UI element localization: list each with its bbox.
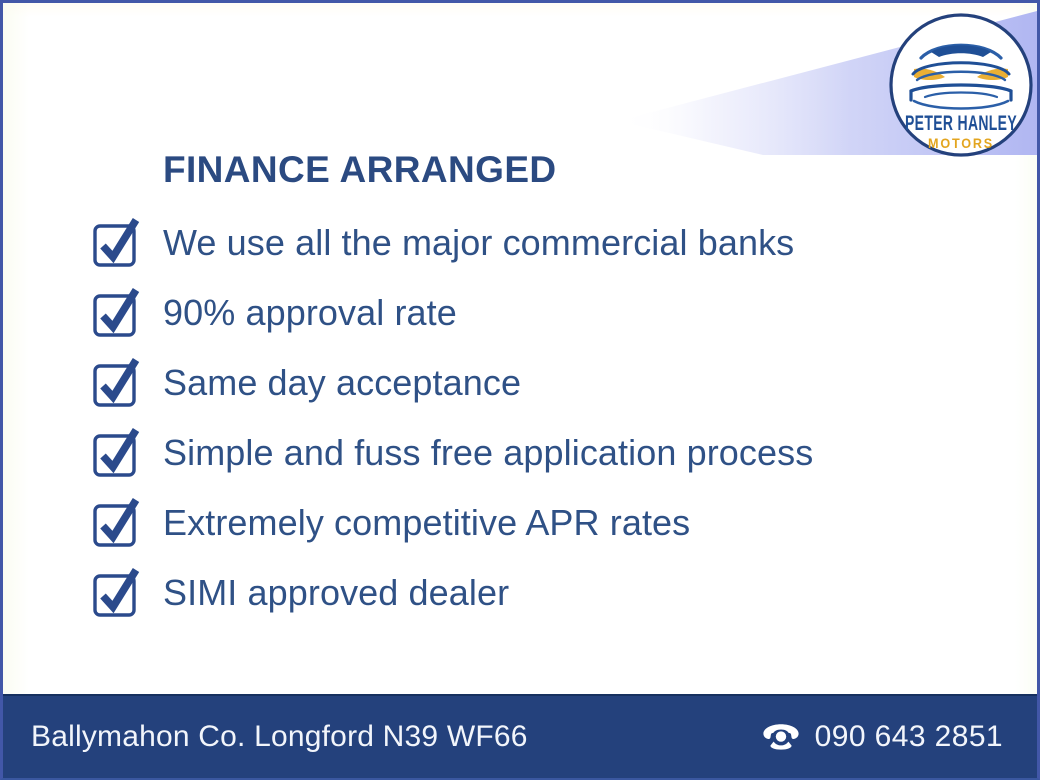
checkbox-checked-icon bbox=[91, 495, 147, 551]
checkbox-checked-icon bbox=[91, 355, 147, 411]
list-item-label: We use all the major commercial banks bbox=[163, 225, 794, 261]
list-item: Same day acceptance bbox=[91, 348, 991, 418]
list-item-label: SIMI approved dealer bbox=[163, 575, 509, 611]
footer-address: Ballymahon Co. Longford N39 WF66 bbox=[31, 720, 528, 754]
list-item: SIMI approved dealer bbox=[91, 558, 991, 628]
checkbox-checked-icon bbox=[91, 425, 147, 481]
list-item: Extremely competitive APR rates bbox=[91, 488, 991, 558]
checkbox-checked-icon bbox=[91, 565, 147, 621]
logo-brand-sub: MOTORS bbox=[928, 135, 994, 151]
telephone-icon bbox=[761, 722, 801, 752]
list-item-label: Extremely competitive APR rates bbox=[163, 505, 690, 541]
footer-phone-group[interactable]: 090 643 2851 bbox=[761, 720, 1003, 754]
benefits-checklist: We use all the major commercial banks 90… bbox=[91, 208, 991, 628]
list-item-label: Simple and fuss free application process bbox=[163, 435, 813, 471]
footer-bar: Ballymahon Co. Longford N39 WF66 090 643… bbox=[3, 694, 1037, 778]
brand-logo: PETER HANLEY MOTORS bbox=[887, 11, 1035, 159]
footer-phone-number: 090 643 2851 bbox=[815, 720, 1003, 754]
list-item-label: Same day acceptance bbox=[163, 365, 521, 401]
page-title: FINANCE ARRANGED bbox=[163, 149, 557, 191]
list-item: Simple and fuss free application process bbox=[91, 418, 991, 488]
finance-arranged-poster: PETER HANLEY MOTORS FINANCE ARRANGED We … bbox=[0, 0, 1040, 780]
list-item: We use all the major commercial banks bbox=[91, 208, 991, 278]
logo-brand-name: PETER HANLEY bbox=[905, 112, 1017, 135]
list-item-label: 90% approval rate bbox=[163, 295, 457, 331]
list-item: 90% approval rate bbox=[91, 278, 991, 348]
decorative-gradient-wedge bbox=[3, 3, 1037, 163]
checkbox-checked-icon bbox=[91, 285, 147, 341]
checkbox-checked-icon bbox=[91, 215, 147, 271]
